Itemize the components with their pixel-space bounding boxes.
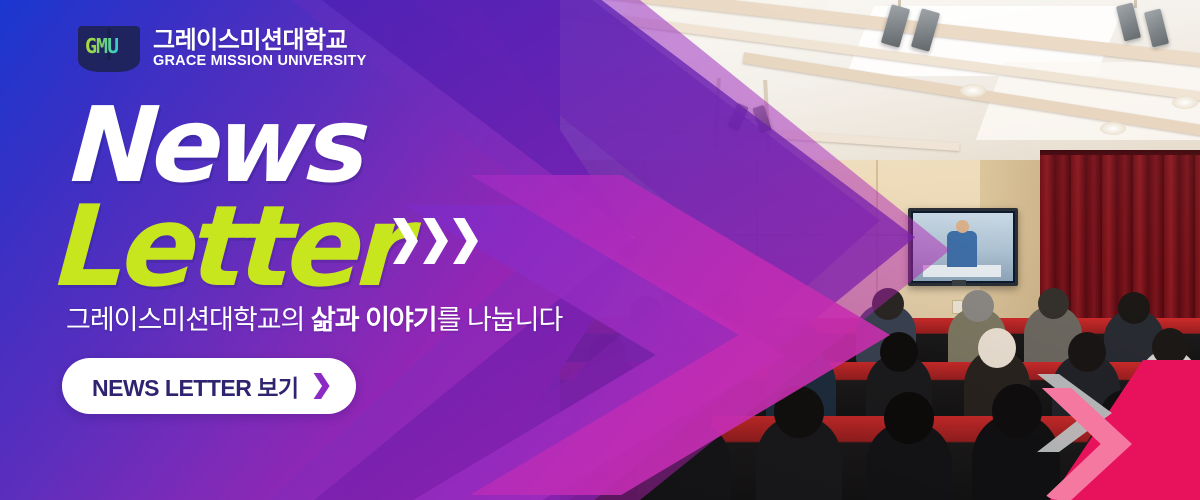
tagline-suffix: 를 나눕니다 <box>437 305 563 335</box>
tagline: 그레이스미션대학교의 삶과 이야기를 나눕니다 <box>66 304 562 336</box>
chevron-right-icon <box>313 373 330 399</box>
chevron-right-icon <box>392 218 418 264</box>
book-lower <box>82 60 136 70</box>
headline-letter: Letter <box>54 196 411 299</box>
triple-chevron-right-icon <box>392 218 478 264</box>
chevron-right-icon <box>452 218 478 264</box>
chevron-right-icon <box>422 218 448 264</box>
tagline-prefix: 그레이스미션대학교의 <box>66 305 311 335</box>
tagline-emphasis: 삶과 이야기 <box>311 305 437 335</box>
university-logo[interactable]: GMU 그레이스미션대학교 GRACE MISSION UNIVERSITY <box>78 24 366 74</box>
newsletter-banner: GMU 그레이스미션대학교 GRACE MISSION UNIVERSITY N… <box>0 0 1200 500</box>
headline-news: News <box>69 98 367 194</box>
open-book-icon: GMU <box>78 24 140 74</box>
logo-mark-text: GMU <box>85 36 118 56</box>
banner-content: GMU 그레이스미션대학교 GRACE MISSION UNIVERSITY N… <box>0 0 620 500</box>
newsletter-view-button-label: NEWS LETTER 보기 <box>92 369 299 403</box>
university-name-en: GRACE MISSION UNIVERSITY <box>153 54 366 69</box>
university-name-ko: 그레이스미션대학교 <box>153 28 366 53</box>
logo-text-block: 그레이스미션대학교 GRACE MISSION UNIVERSITY <box>153 28 366 69</box>
newsletter-view-button[interactable]: NEWS LETTER 보기 <box>62 358 356 414</box>
